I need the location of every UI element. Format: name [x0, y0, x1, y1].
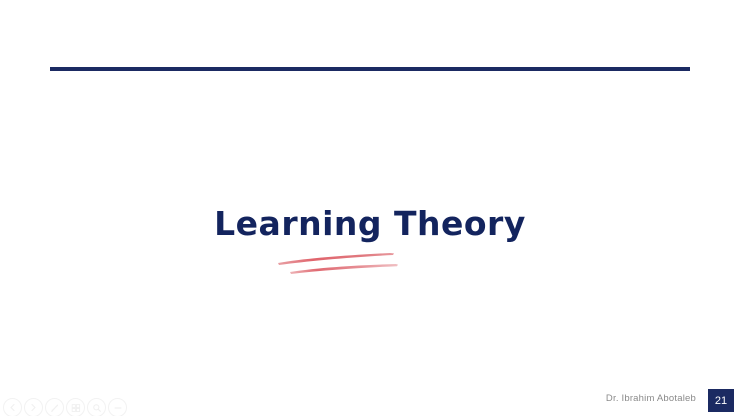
pen-annotate-button[interactable]	[45, 398, 64, 416]
previous-slide-button[interactable]	[3, 398, 22, 416]
red-brush-underline	[272, 250, 404, 284]
previous-slide-icon	[8, 403, 17, 412]
top-divider-rule	[50, 67, 690, 71]
presentation-slide: Learning Theory Dr. Ibrahim Abotaleb 21	[0, 0, 740, 416]
next-slide-icon	[29, 403, 38, 412]
presenter-controls-toolbar[interactable]	[3, 398, 127, 416]
pen-annotate-icon	[50, 403, 60, 413]
footer-author-text: Dr. Ibrahim Abotaleb	[606, 393, 696, 404]
page-title: Learning Theory	[0, 206, 740, 242]
zoom-in-button[interactable]	[87, 398, 106, 416]
next-slide-button[interactable]	[24, 398, 43, 416]
slide-navigator-icon	[71, 403, 81, 413]
slide-number-badge: 21	[708, 389, 734, 412]
zoom-in-icon	[92, 403, 102, 413]
slide-navigator-button[interactable]	[66, 398, 85, 416]
more-options-button[interactable]	[108, 398, 127, 416]
more-options-icon	[113, 403, 123, 413]
title-block: Learning Theory	[0, 206, 740, 242]
